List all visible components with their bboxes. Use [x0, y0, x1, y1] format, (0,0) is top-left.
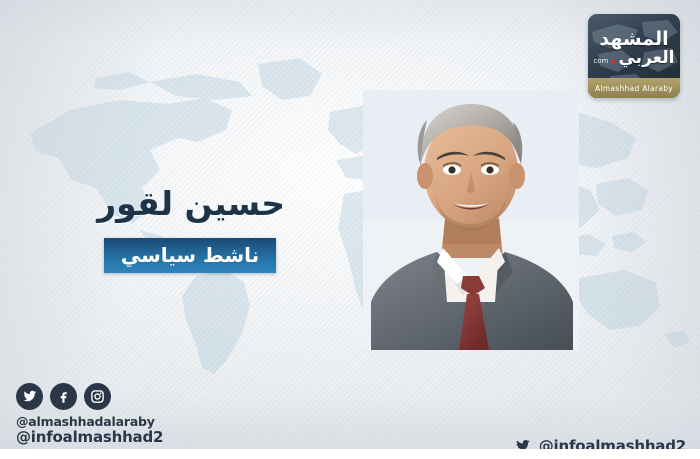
logo-arabic-line-2: العربي	[618, 50, 674, 67]
logo-band: Almashhad Alaraby	[588, 78, 680, 98]
twitter-icon[interactable]	[16, 383, 43, 410]
brand-logo[interactable]: المشهد العربي com Almashhad Alaraby	[588, 14, 680, 98]
bottom-white-strip	[0, 449, 700, 459]
news-personality-card: المشهد العربي com Almashhad Alaraby	[0, 0, 700, 459]
social-block: @almashhadalaraby @infoalmashhad2	[16, 383, 163, 446]
logo-band-text: Almashhad Alaraby	[595, 84, 673, 93]
logo-arabic-line-1: المشهد	[599, 30, 668, 49]
person-name: حسين لقور	[60, 186, 285, 222]
handle-secondary: @infoalmashhad2	[16, 429, 163, 446]
person-portrait-photo	[363, 90, 579, 350]
facebook-icon[interactable]	[50, 383, 77, 410]
role-badge: ناشط سياسي	[104, 238, 276, 273]
role-badge-label: ناشط سياسي	[121, 245, 259, 267]
instagram-icon[interactable]	[84, 383, 111, 410]
portrait-container	[345, 92, 597, 344]
handle-primary: @almashhadalaraby	[16, 415, 163, 429]
logo-com-label: com	[594, 58, 609, 67]
social-handles: @almashhadalaraby @infoalmashhad2	[16, 415, 163, 446]
social-icons-row	[16, 383, 163, 410]
logo-red-dot-icon	[611, 60, 615, 64]
